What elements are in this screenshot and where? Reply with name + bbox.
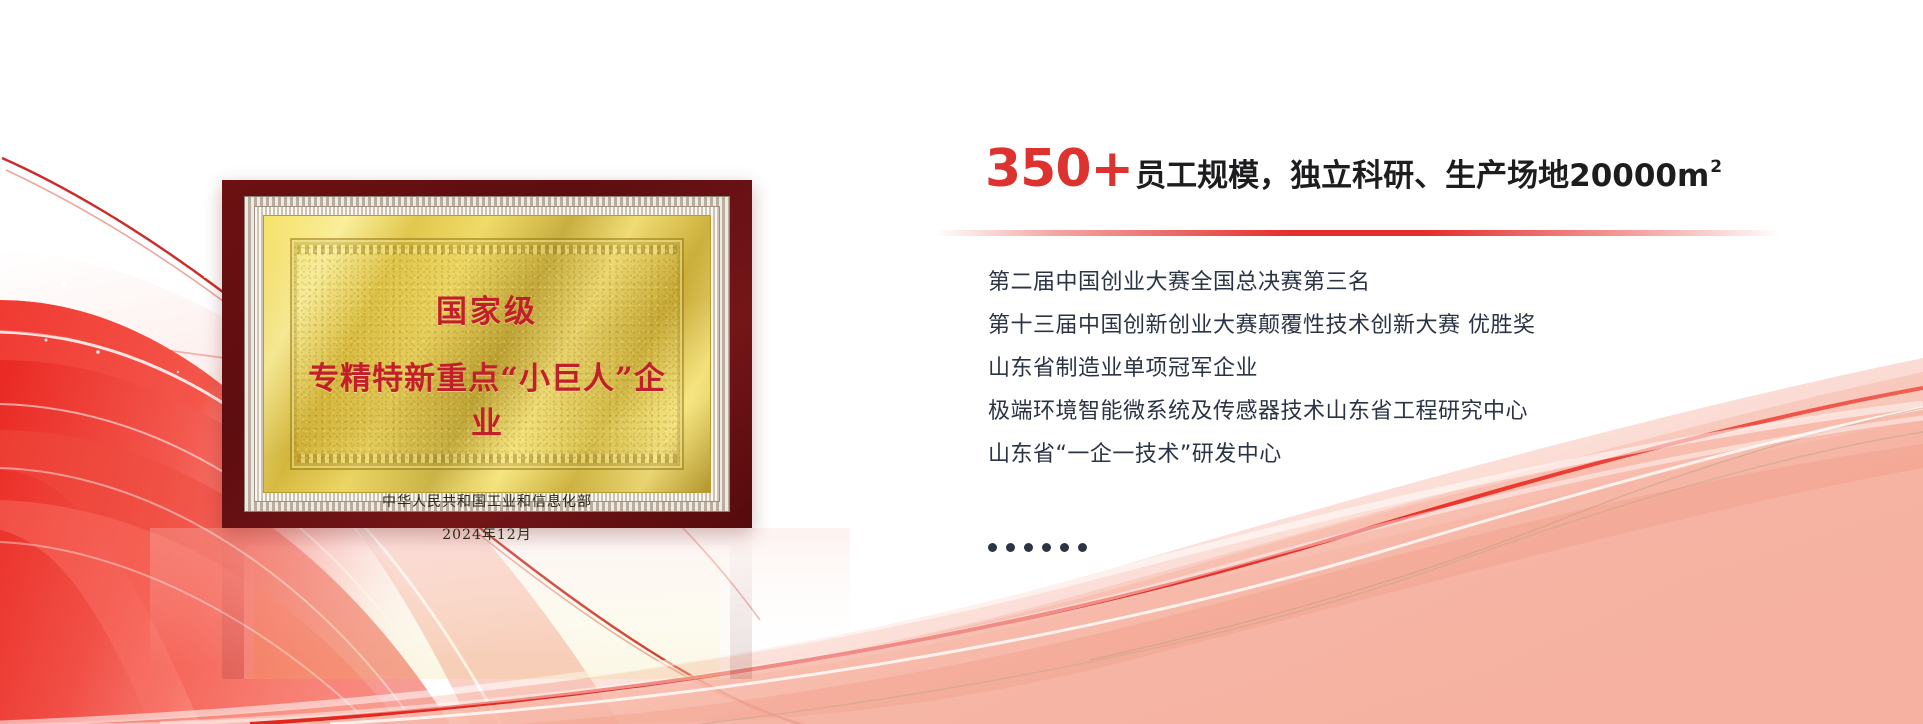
more-items-ellipsis — [988, 543, 1087, 552]
ellipsis-dot — [1042, 543, 1051, 552]
plaque-title-line1: 国家级 — [436, 286, 538, 331]
headline: 350+ 员工规模，独立科研、生产场地20000m 2 — [985, 143, 1722, 195]
plaque-date: 2024年12月 — [442, 524, 531, 544]
list-item: 第十三届中国创新创业大赛颠覆性技术创新大赛 优胜奖 — [988, 315, 1808, 337]
list-item: 山东省“一企一技术”研发中心 — [988, 444, 1808, 466]
plaque-issuer: 中华人民共和国工业和信息化部 — [382, 491, 592, 511]
headline-underline-rule — [935, 230, 1781, 236]
ellipsis-dot — [1006, 543, 1015, 552]
banner-stage: 国家级 专精特新重点“小巨人”企业 中华人民共和国工业和信息化部 2024年12… — [0, 0, 1923, 724]
achievement-list: 第二届中国创业大赛全国总决赛第三名 第十三届中国创新创业大赛颠覆性技术创新大赛 … — [988, 272, 1808, 487]
plaque-gold-face: 国家级 专精特新重点“小巨人”企业 中华人民共和国工业和信息化部 2024年12… — [263, 215, 711, 493]
list-item: 第二届中国创业大赛全国总决赛第三名 — [988, 272, 1808, 294]
plaque-outer-frame: 国家级 专精特新重点“小巨人”企业 中华人民共和国工业和信息化部 2024年12… — [222, 180, 752, 528]
ellipsis-dot — [1024, 543, 1033, 552]
headline-figure: 350+ — [985, 143, 1133, 195]
headline-text: 员工规模，独立科研、生产场地20000m — [1135, 161, 1709, 192]
headline-superscript: 2 — [1710, 157, 1722, 177]
list-item: 极端环境智能微系统及传感器技术山东省工程研究中心 — [988, 401, 1808, 423]
plaque-title-line2: 专精特新重点“小巨人”企业 — [304, 353, 670, 443]
plaque-silver-band-inner: 国家级 专精特新重点“小巨人”企业 中华人民共和国工业和信息化部 2024年12… — [254, 206, 720, 502]
ellipsis-dot — [1060, 543, 1069, 552]
award-plaque: 国家级 专精特新重点“小巨人”企业 中华人民共和国工业和信息化部 2024年12… — [222, 180, 752, 528]
ellipsis-dot — [1078, 543, 1087, 552]
plaque-silver-band-outer: 国家级 专精特新重点“小巨人”企业 中华人民共和国工业和信息化部 2024年12… — [244, 196, 730, 512]
plaque-text-block: 国家级 专精特新重点“小巨人”企业 中华人民共和国工业和信息化部 2024年12… — [304, 262, 670, 452]
ellipsis-dot — [988, 543, 997, 552]
list-item: 山东省制造业单项冠军企业 — [988, 358, 1808, 380]
